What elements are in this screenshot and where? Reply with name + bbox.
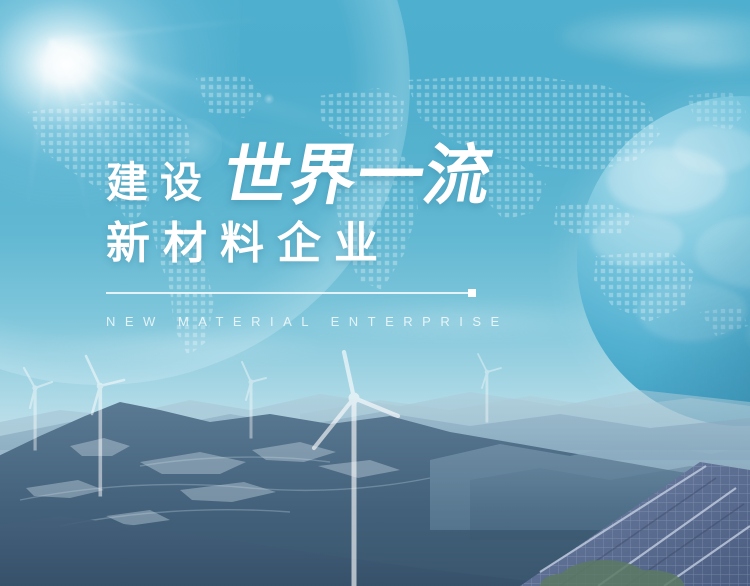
divider-rule: [106, 292, 472, 294]
headline-prefix: 建设: [106, 162, 214, 204]
headline-line-1: 建设 世界一流: [106, 132, 526, 208]
headline-line-2: 新材料企业: [106, 222, 526, 266]
divider-end-marker: [468, 289, 476, 297]
hero-banner: 建设 世界一流 新材料企业 NEW MATERIAL ENTERPRISE: [0, 0, 750, 586]
landscape: [0, 340, 750, 586]
headline-emphasis: 世界一流: [218, 142, 499, 208]
headline-block: 建设 世界一流 新材料企业 NEW MATERIAL ENTERPRISE: [106, 132, 526, 329]
subtitle-english: NEW MATERIAL ENTERPRISE: [106, 314, 526, 329]
